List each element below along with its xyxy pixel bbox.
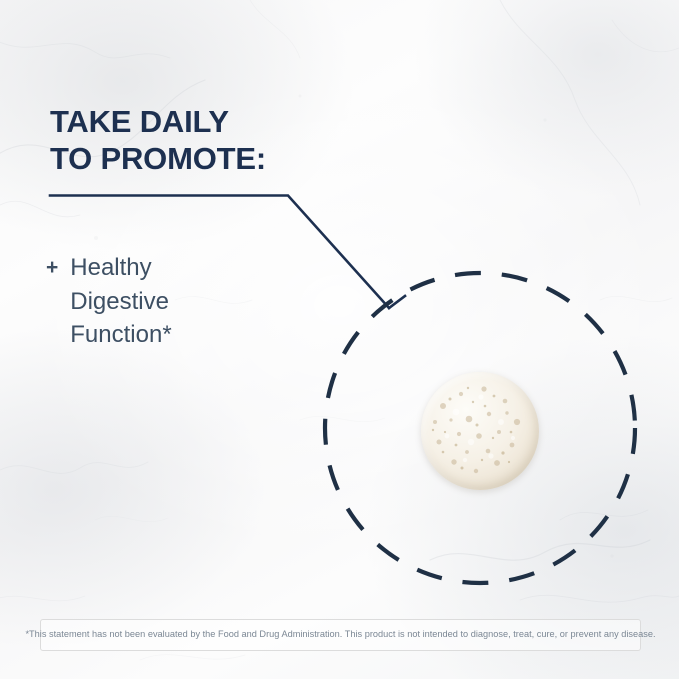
disclaimer-text: *This statement has not been evaluated b… — [25, 629, 655, 640]
supplement-tablet — [421, 372, 539, 490]
disclaimer-box: *This statement has not been evaluated b… — [40, 619, 641, 651]
tablet-speckle-texture — [421, 372, 539, 490]
benefit-list: + Healthy Digestive Function* — [46, 251, 286, 352]
benefit-label: Healthy Digestive Function* — [70, 251, 171, 352]
tablet-body — [421, 372, 539, 490]
page-title: TAKE DAILY TO PROMOTE: — [50, 104, 350, 177]
product-benefit-graphic: TAKE DAILY TO PROMOTE: + Healthy Digesti… — [0, 0, 679, 679]
list-item: + Healthy Digestive Function* — [46, 251, 286, 352]
plus-icon: + — [46, 251, 58, 278]
